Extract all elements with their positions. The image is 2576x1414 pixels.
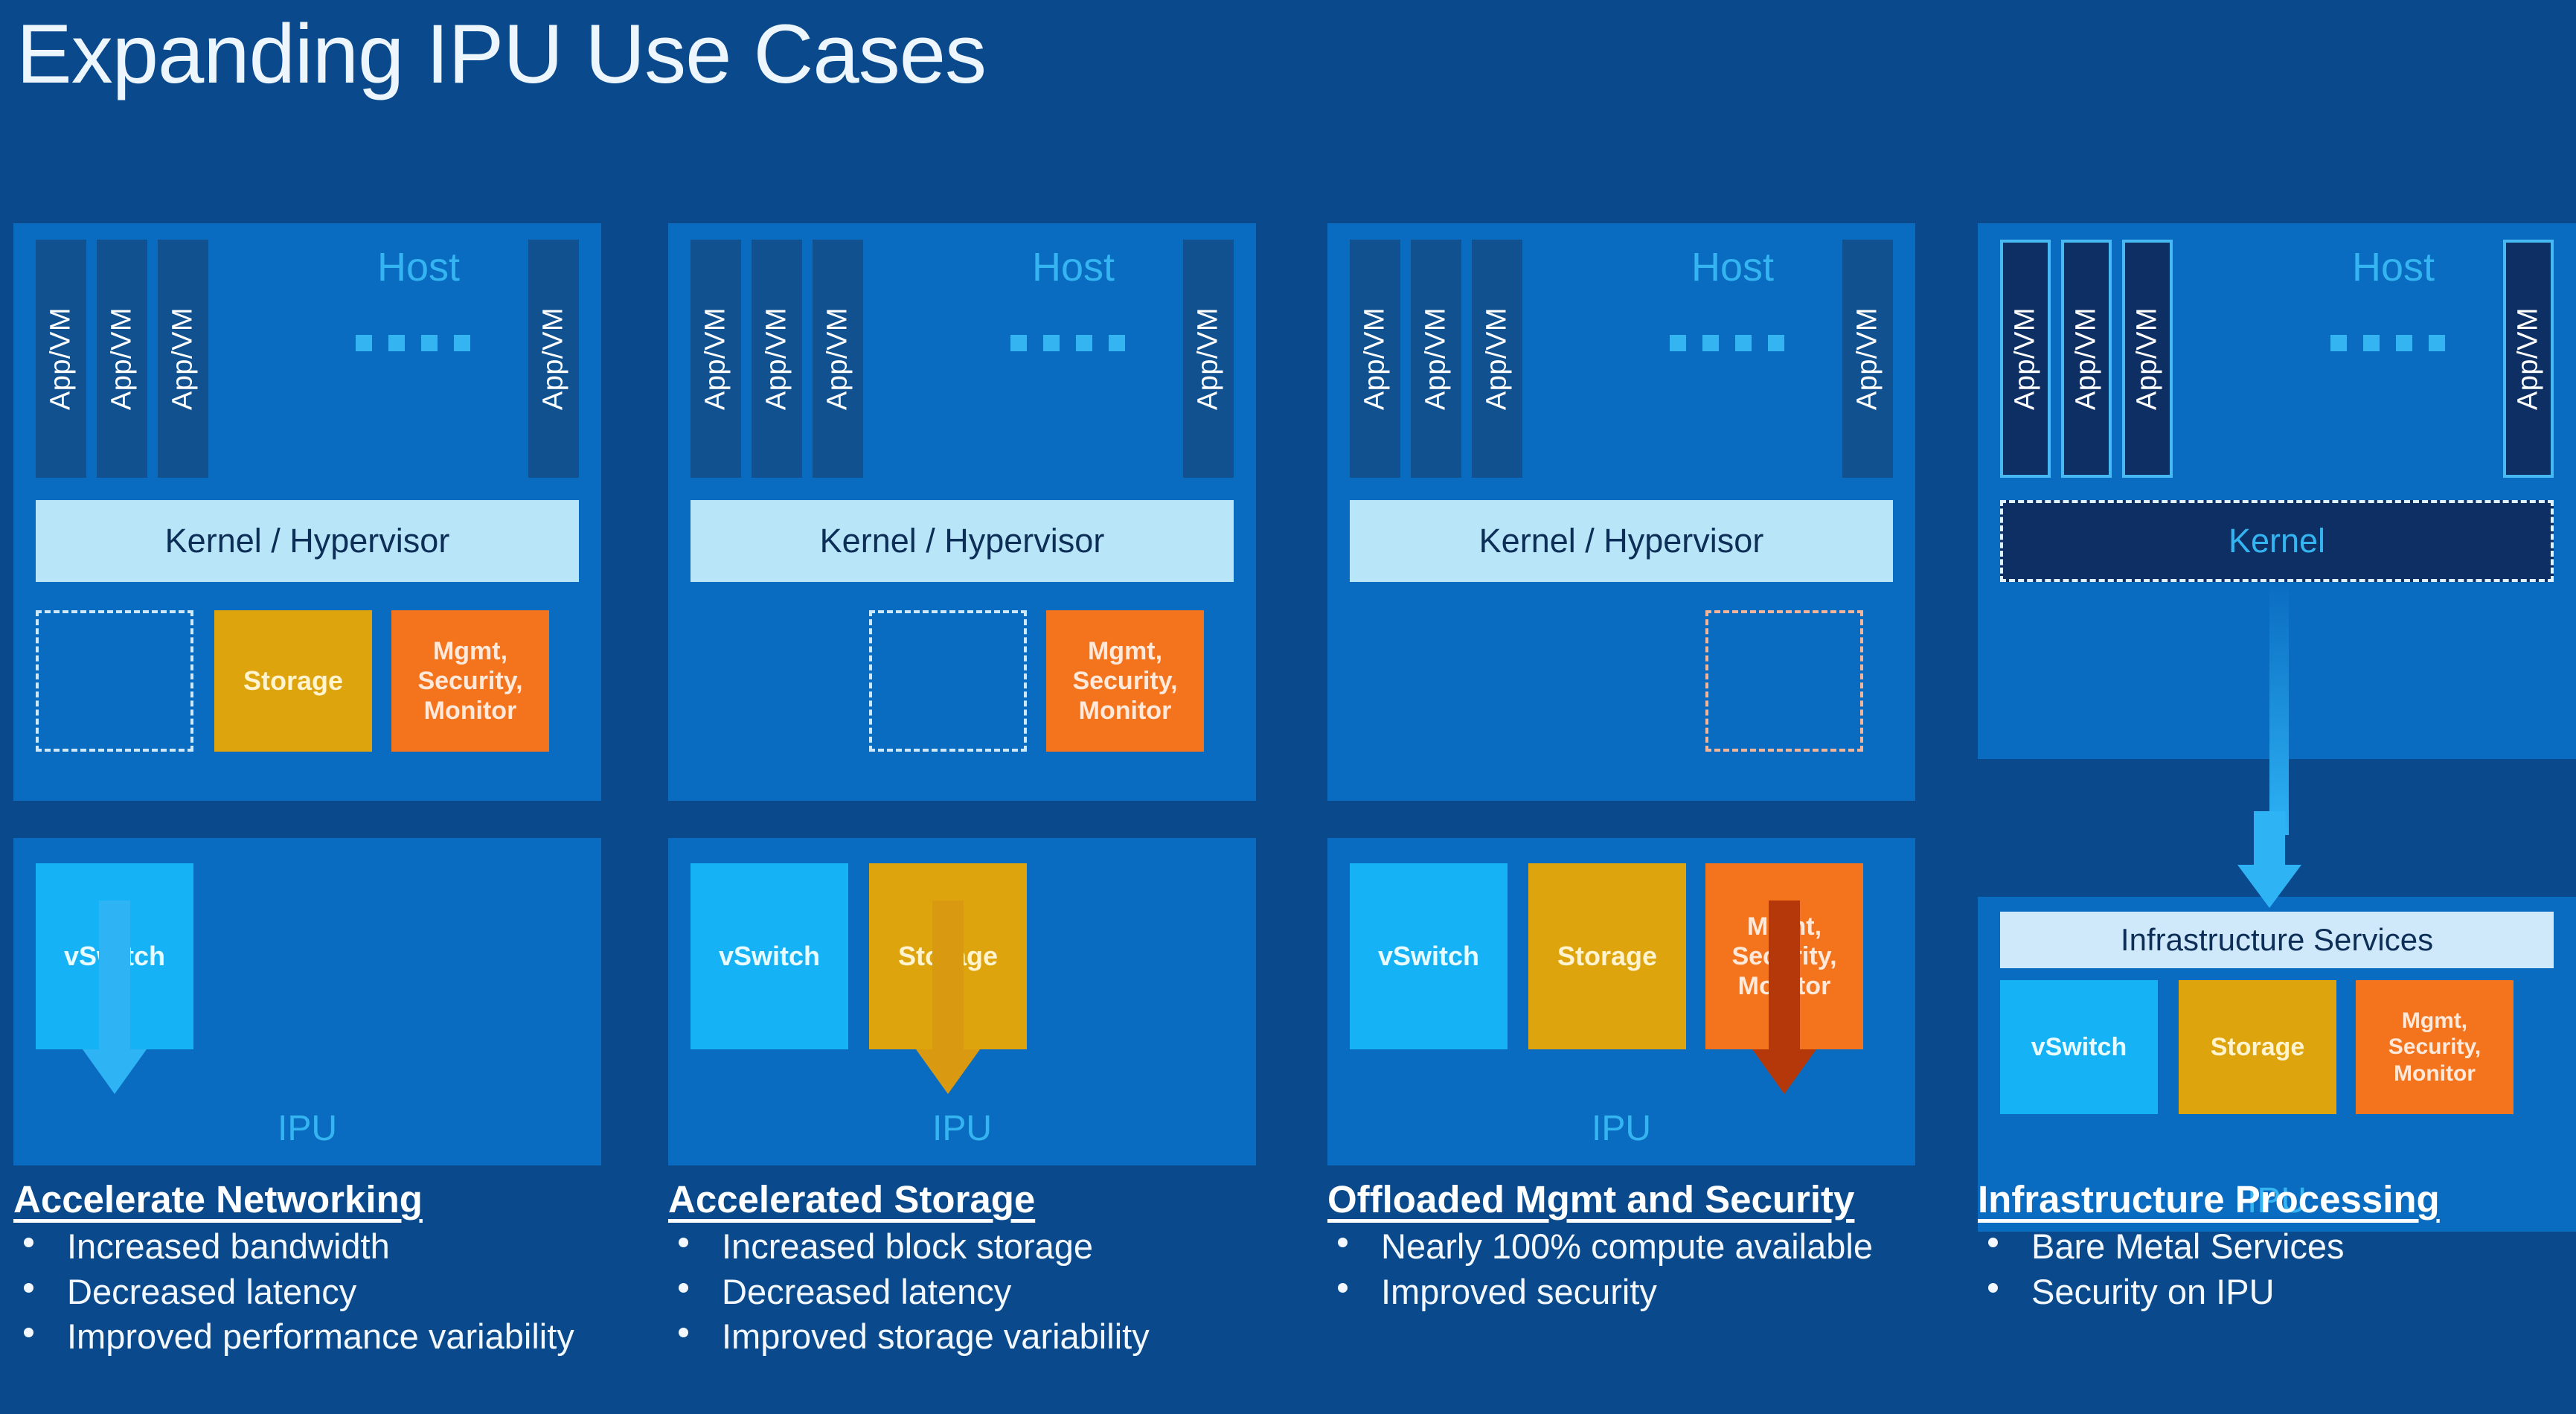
- list-item: Security on IPU: [1978, 1273, 2576, 1312]
- bullet-text: Security on IPU: [2031, 1272, 2275, 1311]
- panel-offloaded-mgmt-and-security: Host App/VM App/VM App/VM App/VM Kernel …: [1327, 223, 1915, 801]
- bullet-text: Improved performance variability: [67, 1317, 574, 1356]
- bullet-dot-icon: [679, 1328, 688, 1337]
- app-vm-label: App/VM: [538, 307, 570, 410]
- host-service-row: Mgmt,Security,Monitor: [691, 610, 1234, 759]
- app-vm-box: App/VM: [752, 240, 802, 478]
- host-mgmt-box: Mgmt,Security,Monitor: [1046, 610, 1204, 752]
- kernel-hypervisor-bar: Kernel / Hypervisor: [36, 500, 579, 582]
- infrastructure-offload-arrow: [2237, 811, 2302, 908]
- storage-offload-arrow: [915, 900, 981, 1094]
- list-item: Increased bandwidth: [13, 1227, 653, 1267]
- ipu-mgmt-box: Mgmt,Security,Monitor: [2356, 980, 2513, 1114]
- host-service-row: [1350, 610, 1893, 759]
- list-item: Decreased latency: [668, 1273, 1308, 1312]
- bullet-text: Improved storage variability: [722, 1317, 1150, 1356]
- bullet-dot-icon: [679, 1238, 688, 1247]
- caption-bullets: Bare Metal Services Security on IPU: [1978, 1227, 2576, 1311]
- list-item: Improved storage variability: [668, 1317, 1308, 1357]
- panel-caption: Offloaded Mgmt and Security Nearly 100% …: [1327, 1177, 1967, 1317]
- app-vm-label: App/VM: [167, 307, 199, 410]
- ipu-storage-box: Storage: [2179, 980, 2336, 1114]
- app-vm-label: App/VM: [45, 307, 77, 410]
- app-vm-label: App/VM: [1359, 307, 1391, 410]
- bullet-dot-icon: [1988, 1283, 1998, 1293]
- list-item: Improved performance variability: [13, 1317, 653, 1357]
- ipu-vswitch-box: vSwitch: [2000, 980, 2158, 1114]
- bullet-text: Decreased latency: [67, 1272, 356, 1311]
- app-vm-box: App/VM: [2503, 240, 2554, 478]
- caption-bullets: Increased block storage Decreased latenc…: [668, 1227, 1308, 1357]
- app-vm-label: App/VM: [2132, 307, 2164, 410]
- app-vm-box: App/VM: [158, 240, 208, 478]
- app-vm-label: App/VM: [1420, 307, 1452, 410]
- bullet-text: Increased bandwidth: [67, 1226, 390, 1266]
- app-vm-label: App/VM: [1852, 307, 1884, 410]
- app-vm-box: App/VM: [1472, 240, 1522, 478]
- list-item: Nearly 100% compute available: [1327, 1227, 1967, 1267]
- app-vm-label: App/VM: [761, 307, 793, 410]
- app-vm-box: App/VM: [1411, 240, 1461, 478]
- vm-row: App/VM App/VM App/VM App/VM: [36, 240, 579, 478]
- app-vm-label: App/VM: [2010, 307, 2042, 410]
- list-item: Improved security: [1327, 1273, 1967, 1312]
- app-vm-label: App/VM: [2513, 307, 2545, 410]
- vm-row: App/VM App/VM App/VM App/VM: [691, 240, 1234, 478]
- vm-row: App/VM App/VM App/VM App/VM: [2000, 240, 2554, 478]
- app-vm-label: App/VM: [822, 307, 854, 410]
- app-vm-label: App/VM: [1193, 307, 1225, 410]
- caption-bullets: Increased bandwidth Decreased latency Im…: [13, 1227, 653, 1357]
- caption-title: Infrastructure Processing: [1978, 1177, 2576, 1221]
- mgmt-offload-arrow: [1752, 900, 1817, 1094]
- ipu-service-row: vSwitch Storage Mgmt,Security,Monitor: [2000, 980, 2554, 1114]
- panel-caption: Accelerate Networking Increased bandwidt…: [13, 1177, 653, 1363]
- host-block: Host App/VM App/VM App/VM App/VM Kernel …: [13, 223, 601, 801]
- app-vm-box: App/VM: [36, 240, 86, 478]
- ipu-storage-box: Storage: [1528, 863, 1686, 1049]
- caption-bullets: Nearly 100% compute available Improved s…: [1327, 1227, 1967, 1311]
- caption-title: Offloaded Mgmt and Security: [1327, 1177, 1967, 1221]
- ipu-label: IPU: [1327, 1108, 1915, 1149]
- bullet-dot-icon: [1338, 1238, 1348, 1247]
- host-service-row: Storage Mgmt,Security,Monitor: [36, 610, 579, 759]
- panel-caption: Infrastructure Processing Bare Metal Ser…: [1978, 1177, 2576, 1317]
- vm-row: App/VM App/VM App/VM App/VM: [1350, 240, 1893, 478]
- vswitch-empty-slot: [36, 610, 193, 752]
- bullet-text: Increased block storage: [722, 1226, 1093, 1266]
- host-block: Host App/VM App/VM App/VM App/VM Kernel …: [1327, 223, 1915, 801]
- page-title: Expanding IPU Use Cases: [16, 6, 986, 102]
- ipu-vswitch-box: vSwitch: [1350, 863, 1508, 1049]
- panel-caption: Accelerated Storage Increased block stor…: [668, 1177, 1308, 1363]
- kernel-to-ipu-connector: [2269, 582, 2289, 835]
- kernel-hypervisor-bar: Kernel / Hypervisor: [1350, 500, 1893, 582]
- host-mgmt-box: Mgmt,Security,Monitor: [391, 610, 549, 752]
- app-vm-box: App/VM: [97, 240, 147, 478]
- infrastructure-services-bar: Infrastructure Services: [2000, 912, 2554, 968]
- ipu-vswitch-box: vSwitch: [691, 863, 848, 1049]
- app-vm-box: App/VM: [813, 240, 863, 478]
- bullet-text: Nearly 100% compute available: [1381, 1226, 1873, 1266]
- app-vm-label: App/VM: [700, 307, 732, 410]
- panel-accelerated-storage: Host App/VM App/VM App/VM App/VM Kernel …: [668, 223, 1256, 801]
- app-vm-label: App/VM: [2071, 307, 2103, 410]
- bullet-dot-icon: [679, 1283, 688, 1293]
- ipu-label: IPU: [668, 1108, 1256, 1149]
- panel-infrastructure-processing: Host App/VM App/VM App/VM App/VM Kernel …: [1978, 223, 2576, 759]
- app-vm-box: App/VM: [2000, 240, 2051, 478]
- bullet-text: Bare Metal Services: [2031, 1226, 2345, 1266]
- bullet-dot-icon: [24, 1328, 33, 1337]
- storage-empty-slot: [869, 610, 1027, 752]
- caption-title: Accelerated Storage: [668, 1177, 1308, 1221]
- host-block: Host App/VM App/VM App/VM App/VM Kernel …: [668, 223, 1256, 801]
- bullet-dot-icon: [1338, 1283, 1348, 1293]
- app-vm-label: App/VM: [1481, 307, 1513, 410]
- mgmt-empty-slot: [1705, 610, 1863, 752]
- app-vm-box: App/VM: [528, 240, 579, 478]
- ipu-label: IPU: [13, 1108, 601, 1149]
- bullet-text: Decreased latency: [722, 1272, 1011, 1311]
- bullet-text: Improved security: [1381, 1272, 1657, 1311]
- host-storage-box: Storage: [214, 610, 372, 752]
- list-item: Decreased latency: [13, 1273, 653, 1312]
- app-vm-box: App/VM: [2061, 240, 2112, 478]
- use-case-panels: Host App/VM App/VM App/VM App/VM Kernel …: [0, 223, 2576, 1414]
- app-vm-box: App/VM: [691, 240, 741, 478]
- bullet-dot-icon: [24, 1283, 33, 1293]
- list-item: Bare Metal Services: [1978, 1227, 2576, 1267]
- app-vm-box: App/VM: [1350, 240, 1400, 478]
- app-vm-box: App/VM: [1842, 240, 1893, 478]
- vswitch-offload-arrow: [82, 900, 147, 1094]
- list-item: Increased block storage: [668, 1227, 1308, 1267]
- panel-accelerate-networking: Host App/VM App/VM App/VM App/VM Kernel …: [13, 223, 601, 801]
- app-vm-label: App/VM: [106, 307, 138, 410]
- app-vm-box: App/VM: [1183, 240, 1234, 478]
- caption-title: Accelerate Networking: [13, 1177, 653, 1221]
- bullet-dot-icon: [24, 1238, 33, 1247]
- kernel-hypervisor-bar: Kernel / Hypervisor: [691, 500, 1234, 582]
- bullet-dot-icon: [1988, 1238, 1998, 1247]
- kernel-bar: Kernel: [2000, 500, 2554, 582]
- ipu-block: vSwitch Storage Mgmt,Security,Monitor IP…: [1327, 838, 1915, 1165]
- app-vm-box: App/VM: [2122, 240, 2173, 478]
